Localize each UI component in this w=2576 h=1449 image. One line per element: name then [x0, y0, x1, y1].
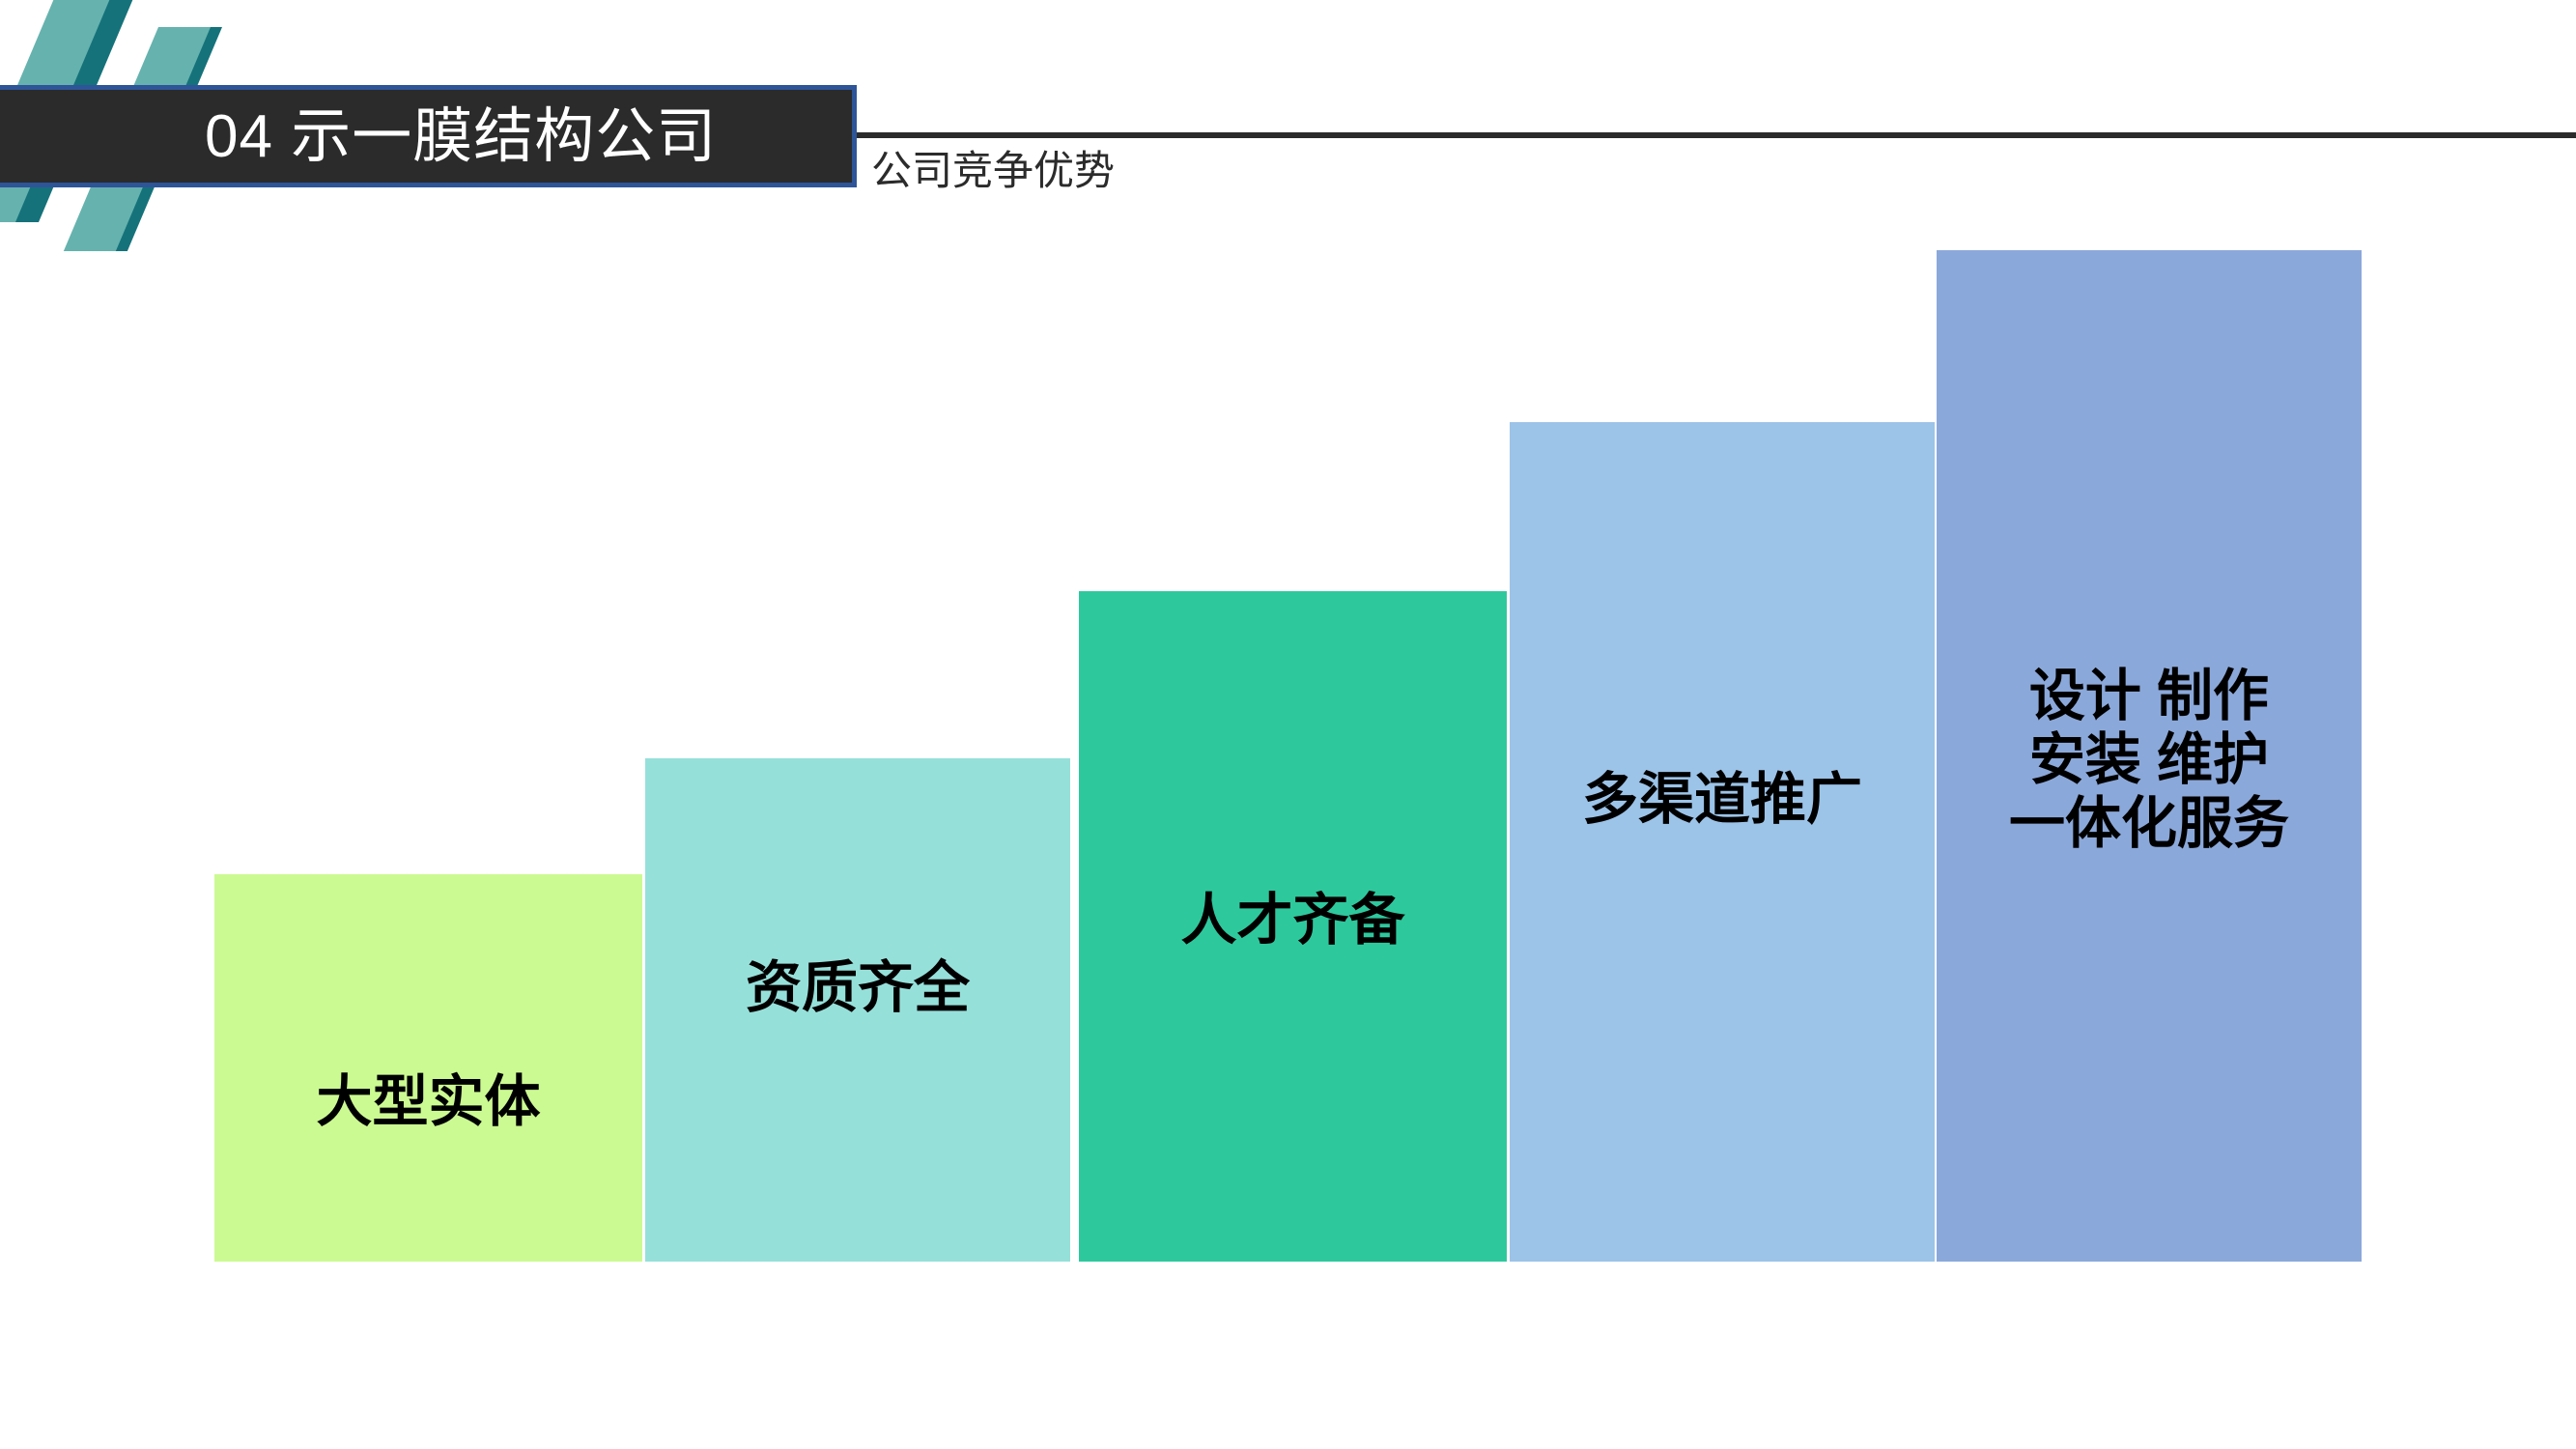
bar-2: 资质齐全 — [645, 758, 1070, 1262]
bar-1-label: 大型实体 — [306, 1070, 550, 1134]
bar-2-label: 资质齐全 — [736, 956, 979, 1020]
page-title: 04 示一膜结构公司 — [205, 87, 717, 189]
bar-3-label: 人才齐备 — [1171, 889, 1414, 952]
bar-4: 多渠道推广 — [1510, 422, 1935, 1262]
bar-3: 人才齐备 — [1079, 591, 1507, 1262]
page-subtitle: 公司竞争优势 — [871, 138, 1115, 197]
bar-chart: 大型实体资质齐全人才齐备多渠道推广设计 制作 安装 维护 一体化服务 — [0, 0, 2576, 1449]
bar-5: 设计 制作 安装 维护 一体化服务 — [1937, 250, 2362, 1262]
bar-4-label: 多渠道推广 — [1572, 768, 1872, 832]
bar-1: 大型实体 — [214, 874, 642, 1262]
bar-5-label: 设计 制作 安装 维护 一体化服务 — [1999, 665, 2299, 856]
